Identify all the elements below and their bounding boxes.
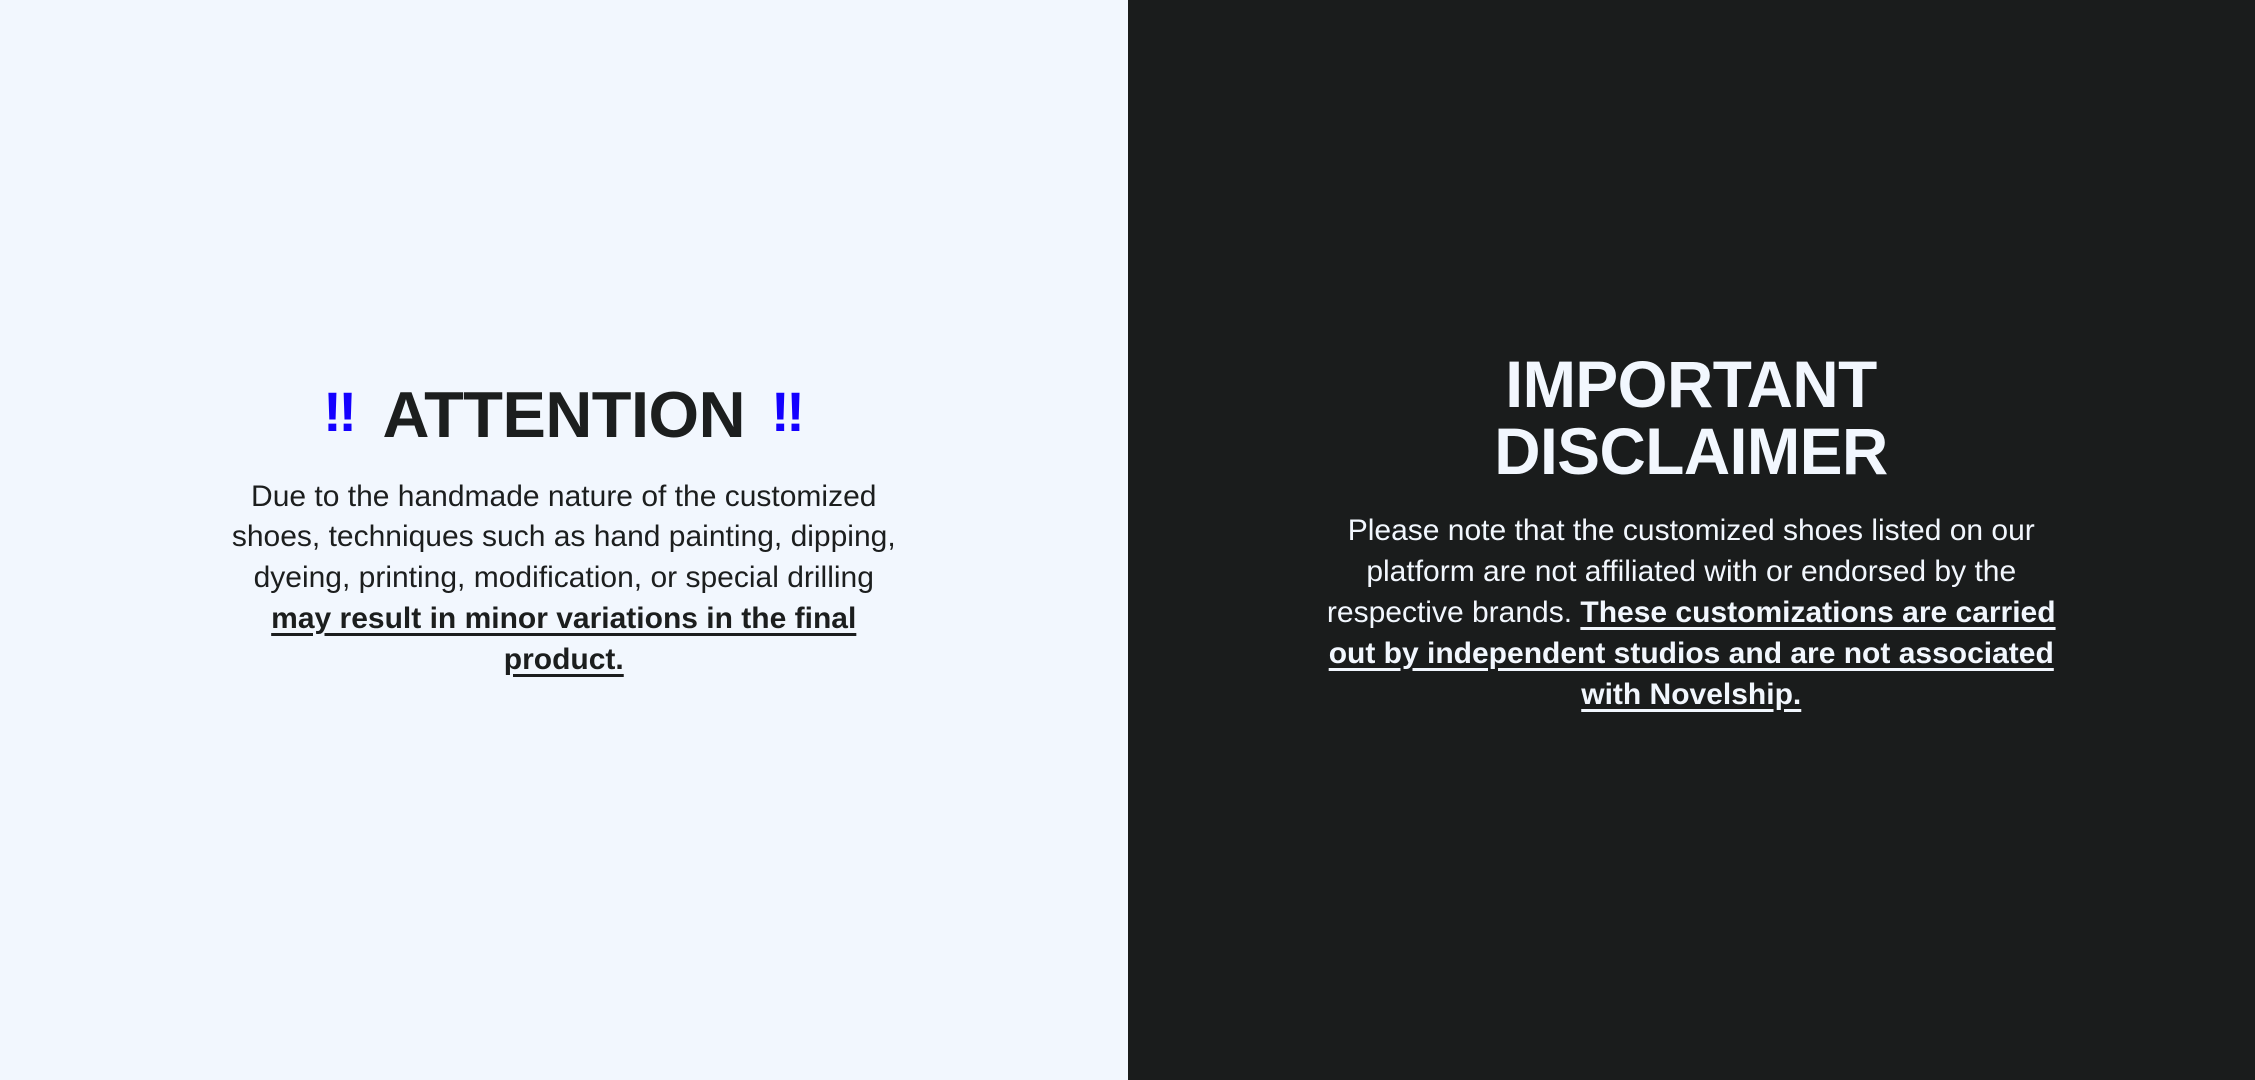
promo-banner: ‼ ATTENTION ‼ Due to the handmade nature… — [0, 0, 2255, 1080]
attention-content: ‼ ATTENTION ‼ Due to the handmade nature… — [174, 382, 954, 681]
disclaimer-headline: IMPORTANT DISCLAIMER — [1294, 351, 2089, 486]
attention-headline: ‼ ATTENTION ‼ — [174, 382, 954, 447]
disclaimer-panel: IMPORTANT DISCLAIMER Please note that th… — [1128, 0, 2255, 1080]
attention-body: Due to the handmade nature of the custom… — [174, 477, 954, 681]
disclaimer-headline-line2: DISCLAIMER — [1494, 414, 1888, 488]
disclaimer-content: IMPORTANT DISCLAIMER Please note that th… — [1281, 351, 2101, 716]
attention-body-emphasis: may result in minor variations in the fi… — [271, 602, 856, 676]
double-exclamation-icon-right: ‼ — [771, 384, 804, 440]
disclaimer-body: Please note that the customized shoes li… — [1281, 511, 2101, 715]
disclaimer-headline-line1: IMPORTANT — [1506, 347, 1877, 421]
double-exclamation-icon-left: ‼ — [323, 384, 356, 440]
attention-panel: ‼ ATTENTION ‼ Due to the handmade nature… — [0, 0, 1128, 1080]
attention-body-plain: Due to the handmade nature of the custom… — [232, 480, 896, 595]
attention-headline-text: ATTENTION — [382, 382, 745, 447]
